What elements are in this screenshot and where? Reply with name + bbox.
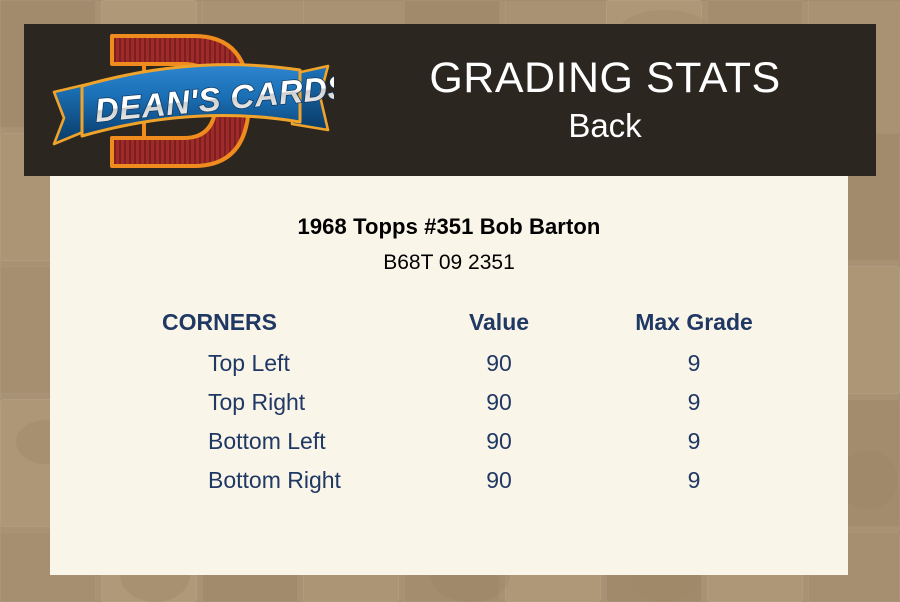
column-header-max-grade: Max Grade — [594, 309, 794, 344]
table-row: Top Right 90 9 — [104, 383, 794, 422]
table-header-row: CORNERS Value Max Grade — [104, 309, 794, 344]
card-title: 1968 Topps #351 Bob Barton — [50, 214, 848, 240]
grading-stats-table: CORNERS Value Max Grade Top Left 90 9 To… — [104, 309, 794, 500]
row-max-grade: 9 — [594, 383, 794, 422]
row-label: Top Left — [104, 344, 404, 383]
row-max-grade: 9 — [594, 344, 794, 383]
row-max-grade: 9 — [594, 422, 794, 461]
row-max-grade: 9 — [594, 461, 794, 500]
table-row: Top Left 90 9 — [104, 344, 794, 383]
row-label: Bottom Right — [104, 461, 404, 500]
table-row: Bottom Right 90 9 — [104, 461, 794, 500]
row-value: 90 — [404, 461, 594, 500]
row-label: Bottom Left — [104, 422, 404, 461]
row-label: Top Right — [104, 383, 404, 422]
logo-graphic: DEAN'S CARDS — [44, 26, 334, 174]
content-panel: 1968 Topps #351 Bob Barton B68T 09 2351 … — [50, 176, 848, 575]
table-row: Bottom Left 90 9 — [104, 422, 794, 461]
deans-cards-logo[interactable]: DEAN'S CARDS — [44, 26, 334, 174]
row-value: 90 — [404, 344, 594, 383]
header-bar: DEAN'S CARDS GRADING STATS Back — [24, 24, 876, 176]
card-code: B68T 09 2351 — [50, 251, 848, 275]
row-value: 90 — [404, 383, 594, 422]
header-title-group: GRADING STATS Back — [334, 24, 876, 176]
column-header-corners: CORNERS — [104, 309, 404, 344]
page-title: GRADING STATS — [429, 53, 780, 103]
row-value: 90 — [404, 422, 594, 461]
column-header-value: Value — [404, 309, 594, 344]
page-subtitle: Back — [568, 105, 641, 147]
